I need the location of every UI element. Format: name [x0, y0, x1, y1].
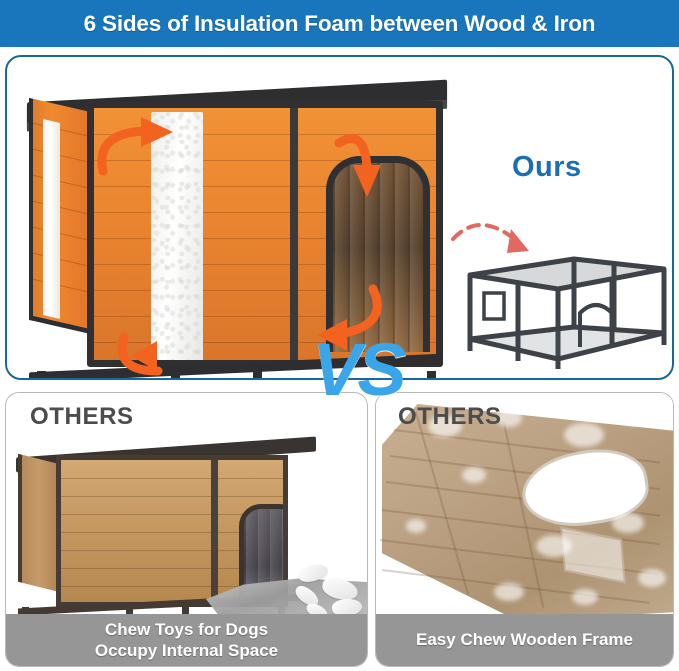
house-arched-doorway — [326, 156, 430, 352]
iron-frame-illustration — [462, 247, 672, 372]
others-panel-right: OTHERS Easy Chew Wooden Frame — [375, 392, 674, 667]
vs-badge: VS — [312, 333, 403, 407]
page-title: 6 Sides of Insulation Foam between Wood … — [84, 11, 596, 37]
house-leg — [37, 371, 46, 380]
caption-left-line-2: Occupy Internal Space — [6, 640, 367, 661]
caption-right: Easy Chew Wooden Frame — [376, 614, 673, 666]
house-leg — [427, 371, 436, 380]
house-leg — [253, 371, 262, 380]
house-leg — [171, 371, 180, 380]
others-side-panel — [18, 454, 60, 592]
caption-left: Chew Toys for Dogs Occupy Internal Space — [6, 614, 367, 666]
others-tag-right: OTHERS — [398, 403, 502, 431]
house-side-panel — [29, 98, 91, 334]
others-center-post — [211, 460, 218, 602]
caption-left-line-1: Chew Toys for Dogs — [6, 619, 367, 640]
caption-right-line-1: Easy Chew Wooden Frame — [376, 629, 673, 650]
front-insulation-foam — [151, 112, 203, 362]
ours-product-illustration — [21, 75, 451, 367]
others-tag-left: OTHERS — [30, 403, 134, 431]
others-left-photo — [6, 439, 368, 616]
header-bar: 6 Sides of Insulation Foam between Wood … — [0, 0, 679, 47]
ours-label: Ours — [512, 151, 582, 184]
house-center-post — [290, 108, 298, 360]
side-insulation-foam — [43, 119, 60, 319]
others-panel-left: OTHERS — [5, 392, 368, 667]
